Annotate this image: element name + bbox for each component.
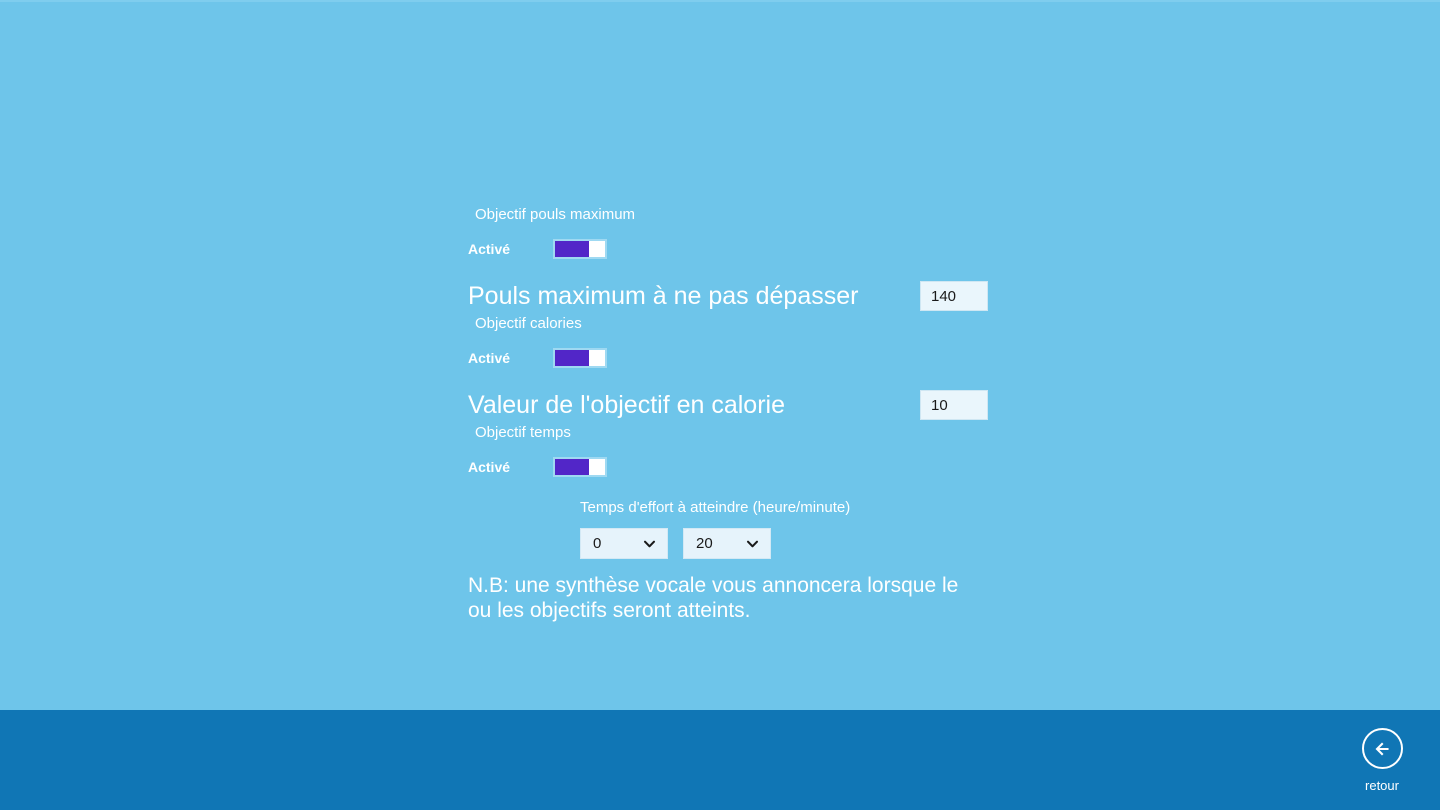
toggle-thumb <box>589 241 605 257</box>
app-root: Objectif pouls maximum Activé Pouls maxi… <box>0 0 1440 810</box>
toggle-switch-calories[interactable] <box>553 348 607 368</box>
toggle-row-temps: Activé <box>468 452 988 482</box>
section-temps: Objectif temps Activé Temps d'effort à a… <box>468 423 988 559</box>
toggle-switch-pouls-maximum[interactable] <box>553 239 607 259</box>
hours-select-value: 0 <box>581 535 601 552</box>
hours-select[interactable]: 0 <box>580 528 668 559</box>
toggle-caption-pouls-maximum: Activé <box>468 241 553 257</box>
calories-input[interactable] <box>920 390 988 420</box>
back-button-label: retour <box>1365 778 1399 793</box>
field-label-pouls-maximum: Pouls maximum à ne pas dépasser <box>468 281 858 311</box>
toggle-thumb <box>589 459 605 475</box>
chevron-down-icon <box>746 537 759 550</box>
toggle-caption-calories: Activé <box>468 350 553 366</box>
arrow-left-circle-icon <box>1362 728 1403 769</box>
toggle-caption-temps: Activé <box>468 459 553 475</box>
toggle-track <box>555 459 589 475</box>
time-goal-block: Temps d'effort à atteindre (heure/minute… <box>468 498 988 559</box>
group-label-temps: Objectif temps <box>475 423 988 443</box>
pouls-maximum-input[interactable] <box>920 281 988 311</box>
field-row-pouls-maximum: Pouls maximum à ne pas dépasser <box>468 278 988 314</box>
field-label-calories: Valeur de l'objectif en calorie <box>468 390 785 420</box>
field-row-calories: Valeur de l'objectif en calorie <box>468 387 988 423</box>
group-label-pouls-maximum: Objectif pouls maximum <box>475 205 988 225</box>
chevron-down-icon <box>643 537 656 550</box>
toggle-switch-temps[interactable] <box>553 457 607 477</box>
settings-content: Objectif pouls maximum Activé Pouls maxi… <box>468 205 988 623</box>
section-pouls-maximum: Objectif pouls maximum Activé Pouls maxi… <box>468 205 988 314</box>
group-label-calories: Objectif calories <box>475 314 988 334</box>
app-bar: retour <box>0 710 1440 810</box>
toggle-row-pouls-maximum: Activé <box>468 234 988 264</box>
toggle-track <box>555 350 589 366</box>
minutes-select-value: 20 <box>684 535 713 552</box>
time-goal-label: Temps d'effort à atteindre (heure/minute… <box>580 498 988 518</box>
toggle-row-calories: Activé <box>468 343 988 373</box>
time-goal-selects: 0 20 <box>580 528 988 559</box>
minutes-select[interactable]: 20 <box>683 528 771 559</box>
note-text: N.B: une synthèse vocale vous annoncera … <box>468 573 968 623</box>
section-calories: Objectif calories Activé Valeur de l'obj… <box>468 314 988 423</box>
toggle-thumb <box>589 350 605 366</box>
back-button[interactable]: retour <box>1346 728 1418 793</box>
toggle-track <box>555 241 589 257</box>
top-edge-highlight <box>0 0 1440 2</box>
